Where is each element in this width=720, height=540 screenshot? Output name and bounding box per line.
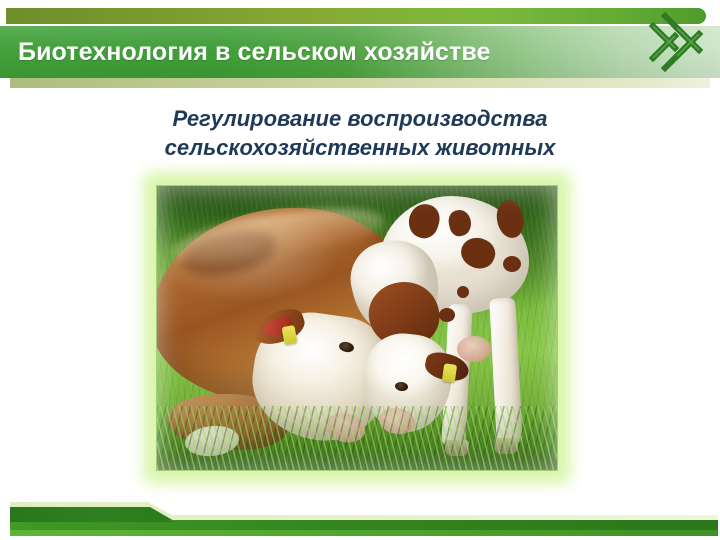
calf-belly-shading [457,336,491,362]
foreground-grass [157,406,557,470]
slide-header: Биотехнология в сельском хозяйстве [0,0,720,98]
calf-spot [503,256,521,272]
presentation-slide: Биотехнология в сельском хозяйстве [0,0,720,540]
calf-ear-tag [442,363,457,383]
slide-footer [0,498,720,540]
calf-spot [457,286,469,298]
subtitle-line-2: сельскохозяйственных животных [60,133,660,162]
slide-photo [143,172,571,484]
slide-subtitle: Регулирование воспроизводства сельскохоз… [60,104,660,162]
woven-knot-logo-icon [645,12,707,74]
header-accent-strip [6,8,706,24]
header-shadow-strip [10,78,710,88]
photo-frame [157,186,557,470]
footer-light-edge [10,530,718,536]
calf-spot [439,308,455,322]
subtitle-line-1: Регулирование воспроизводства [60,104,660,133]
page-title: Биотехнология в сельском хозяйстве [18,28,491,76]
footer-dark-slab [10,507,176,522]
